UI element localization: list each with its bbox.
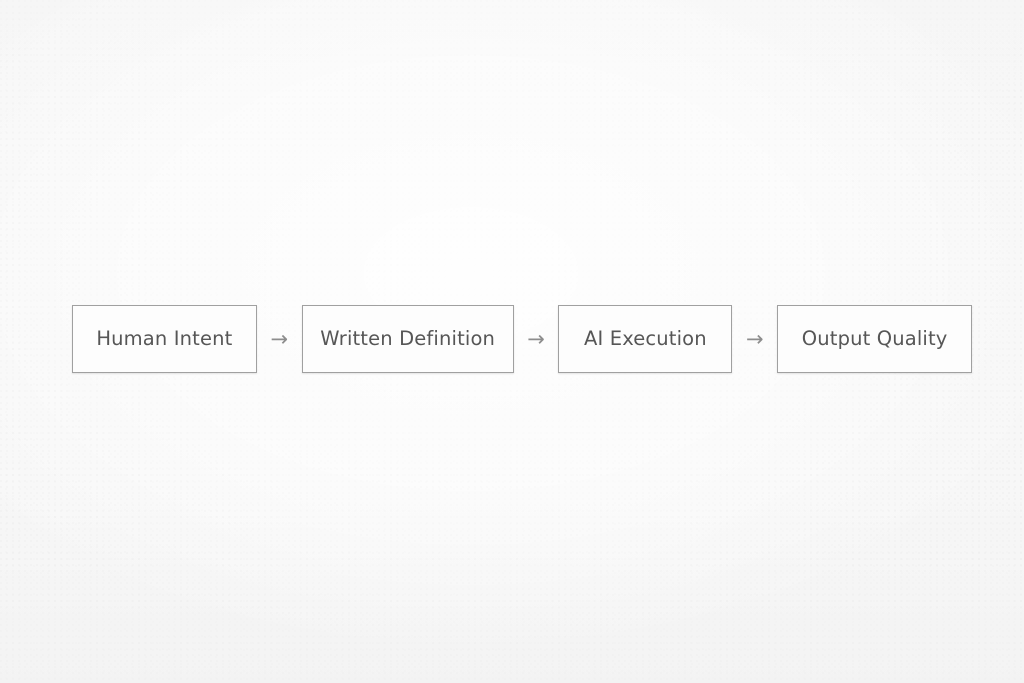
diagram-canvas: Human Intent → Written Definition → AI E…: [0, 0, 1024, 683]
flow-node-human-intent[interactable]: Human Intent: [72, 305, 257, 373]
flow-diagram: Human Intent → Written Definition → AI E…: [72, 305, 972, 373]
flow-node-label: Written Definition: [320, 329, 495, 349]
flow-node-label: AI Execution: [584, 329, 707, 349]
arrow-right-icon-3: →: [732, 305, 777, 373]
flow-node-ai-execution[interactable]: AI Execution: [558, 305, 732, 373]
flow-node-written-definition[interactable]: Written Definition: [302, 305, 514, 373]
flow-node-label: Output Quality: [802, 329, 948, 349]
flow-node-output-quality[interactable]: Output Quality: [777, 305, 972, 373]
arrow-right-icon-1: →: [257, 305, 302, 373]
arrow-right-icon-2: →: [514, 305, 559, 373]
flow-node-label: Human Intent: [96, 329, 232, 349]
